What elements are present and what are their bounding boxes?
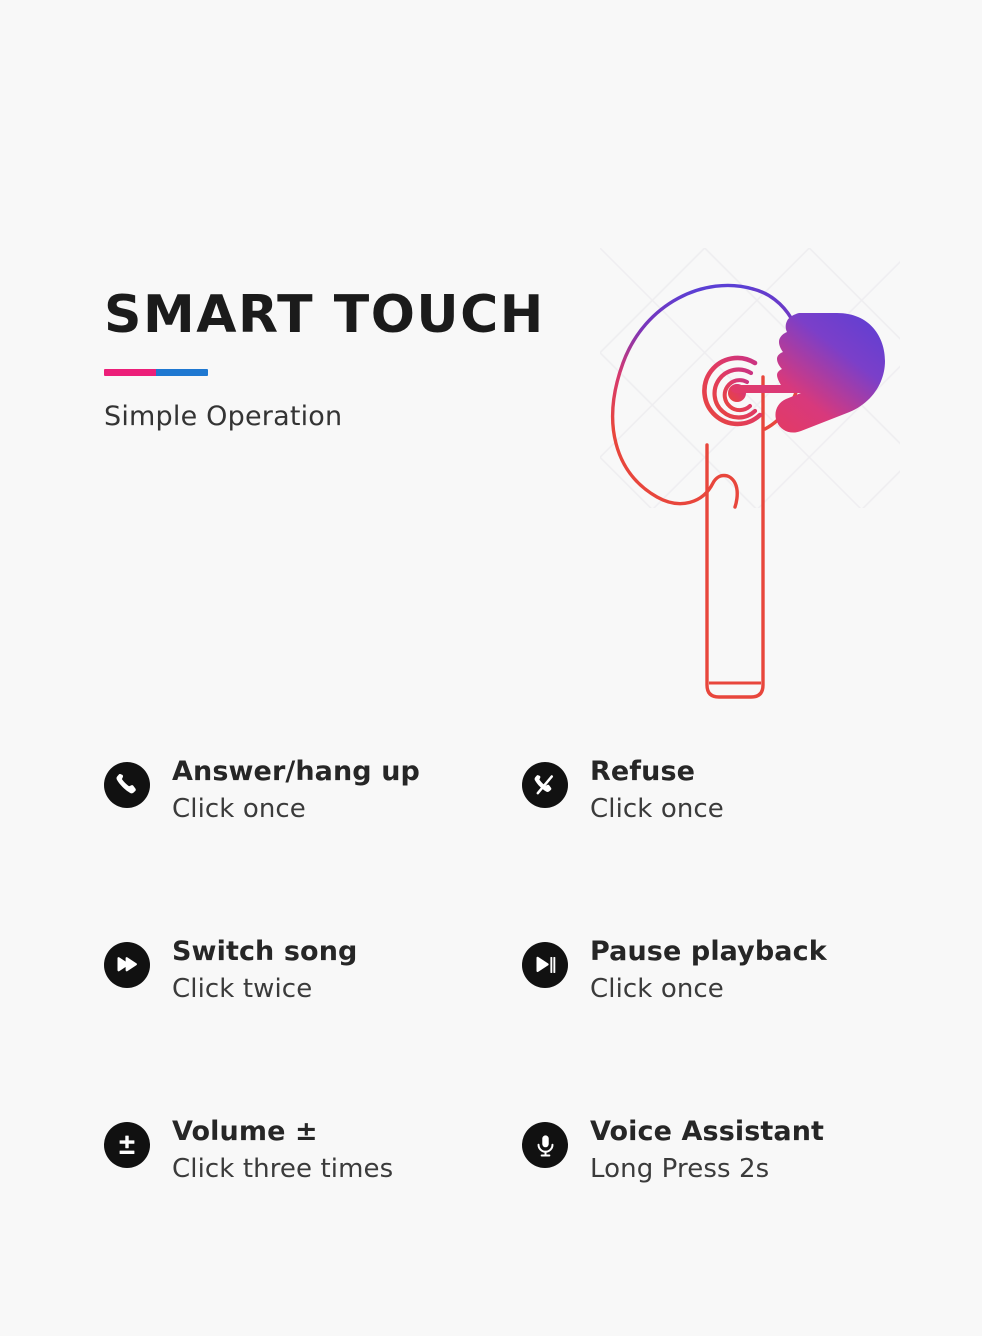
microphone-icon — [522, 1122, 568, 1168]
feature-item-refuse[interactable]: Refuse Click once — [522, 756, 904, 936]
feature-item-switch-song[interactable]: Switch song Click twice — [104, 936, 522, 1116]
infographic-page: SMART TOUCH Simple Operation — [0, 0, 1000, 1336]
feature-subtitle: Click three times — [172, 1147, 393, 1184]
play-pause-icon — [522, 942, 568, 988]
fast-forward-icon — [104, 942, 150, 988]
right-edge-strip — [982, 0, 1000, 1336]
feature-title: Answer/hang up — [172, 756, 420, 787]
heading-block: SMART TOUCH Simple Operation — [104, 288, 574, 432]
feature-text: Voice Assistant Long Press 2s — [590, 1116, 824, 1184]
phone-decline-icon — [522, 762, 568, 808]
feature-title: Switch song — [172, 936, 357, 967]
feature-text: Pause playback Click once — [590, 936, 827, 1004]
feature-subtitle: Click once — [590, 967, 827, 1004]
feature-subtitle: Long Press 2s — [590, 1147, 824, 1184]
divider-segment-pink — [104, 369, 156, 376]
feature-subtitle: Click twice — [172, 967, 357, 1004]
pointing-hand-icon — [731, 313, 885, 433]
feature-title: Refuse — [590, 756, 724, 787]
earbud-touch-illustration — [585, 245, 895, 715]
feature-subtitle: Click once — [172, 787, 420, 824]
feature-text: Answer/hang up Click once — [172, 756, 420, 824]
phone-handset-icon — [104, 762, 150, 808]
feature-item-pause-playback[interactable]: Pause playback Click once — [522, 936, 904, 1116]
feature-grid: Answer/hang up Click once Refuse Click o… — [104, 756, 904, 1296]
page-title: SMART TOUCH — [104, 288, 574, 343]
divider-segment-blue — [156, 369, 208, 376]
feature-item-volume[interactable]: Volume ± Click three times — [104, 1116, 522, 1296]
title-divider — [104, 369, 208, 376]
page-subtitle: Simple Operation — [104, 376, 574, 432]
plus-minus-icon — [104, 1122, 150, 1168]
feature-item-answer-hang-up[interactable]: Answer/hang up Click once — [104, 756, 522, 936]
feature-item-voice-assistant[interactable]: Voice Assistant Long Press 2s — [522, 1116, 904, 1296]
feature-subtitle: Click once — [590, 787, 724, 824]
feature-title: Pause playback — [590, 936, 827, 967]
feature-text: Refuse Click once — [590, 756, 724, 824]
feature-title: Voice Assistant — [590, 1116, 824, 1147]
feature-title: Volume ± — [172, 1116, 393, 1147]
feature-text: Volume ± Click three times — [172, 1116, 393, 1184]
feature-text: Switch song Click twice — [172, 936, 357, 1004]
